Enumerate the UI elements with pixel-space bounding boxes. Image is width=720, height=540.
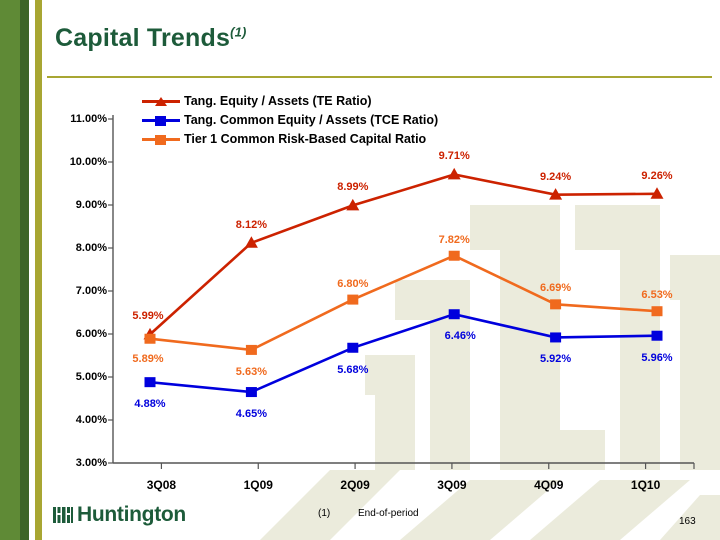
data-point-label: 9.26%: [641, 170, 672, 182]
data-point-label: 9.71%: [439, 150, 470, 162]
data-point-label: 6.80%: [337, 278, 368, 290]
data-point-label: 7.82%: [439, 234, 470, 246]
data-point-label: 4.88%: [134, 398, 165, 410]
data-point-label: 5.92%: [540, 353, 571, 365]
data-point-label: 6.69%: [540, 282, 571, 294]
data-point-label: 5.96%: [641, 352, 672, 364]
footnote-marker: (1): [318, 508, 330, 519]
data-point-label: 5.99%: [132, 310, 163, 322]
data-point-label: 8.12%: [236, 219, 267, 231]
slide-canvas: Capital Trends(1) Tang. Equity / Assets …: [0, 0, 720, 540]
data-point-label: 6.53%: [641, 289, 672, 301]
brand-name: Huntington: [77, 503, 186, 527]
page-number: 163: [679, 516, 696, 527]
data-point-label: 5.89%: [132, 353, 163, 365]
footnote-text: End-of-period: [358, 508, 419, 519]
data-point-labels: 5.99%8.12%8.99%9.71%9.24%9.26%4.88%4.65%…: [0, 0, 720, 540]
huntington-logo-icon: [52, 504, 74, 526]
data-point-label: 9.24%: [540, 171, 571, 183]
data-point-label: 8.99%: [337, 181, 368, 193]
line-chart: 11.00%10.00%9.00%8.00%7.00%6.00%5.00%4.0…: [0, 0, 720, 540]
data-point-label: 4.65%: [236, 408, 267, 420]
brand-logo: Huntington: [52, 503, 186, 527]
data-point-label: 6.46%: [445, 330, 476, 342]
data-point-label: 5.63%: [236, 366, 267, 378]
data-point-label: 5.68%: [337, 364, 368, 376]
